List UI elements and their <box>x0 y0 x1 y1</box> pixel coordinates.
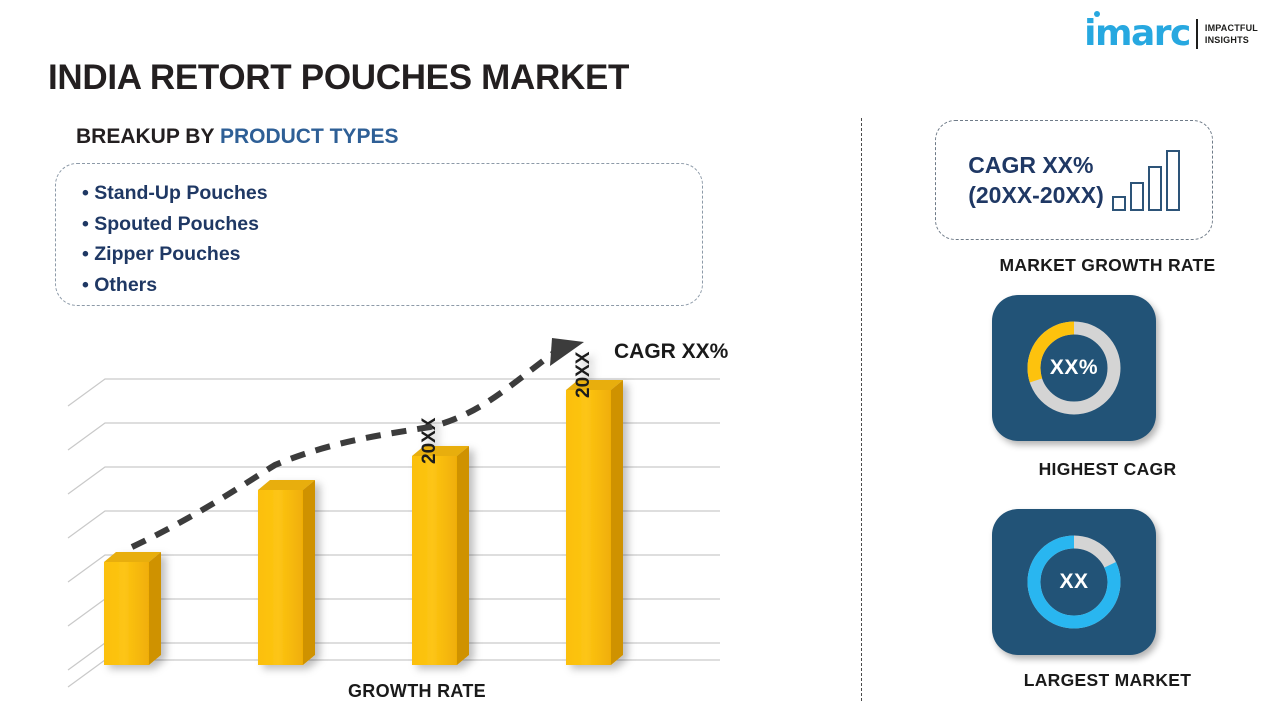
bar-chart-icon-bar-3 <box>1148 166 1162 211</box>
highest-cagr-value: XX% <box>1050 356 1098 380</box>
largest-market-caption-text: LARGEST MARKET <box>969 670 1247 691</box>
bar-chart-icon-bar-1 <box>1112 196 1126 211</box>
bar-1 <box>104 552 161 665</box>
breakup-heading-prefix: BREAKUP BY <box>76 125 220 148</box>
panel-divider <box>861 118 862 701</box>
market-growth-rate-box: CAGR XX% (20XX-20XX) <box>935 120 1213 240</box>
growth-rate-line2: (20XX-20XX) <box>968 180 1104 210</box>
largest-market-value: XX <box>1059 570 1088 594</box>
bar-4-label: 20XX <box>573 351 594 398</box>
breakup-heading-highlight: PRODUCT TYPES <box>220 125 399 148</box>
largest-market-card: XX <box>992 509 1156 655</box>
growth-rate-line1: CAGR XX% <box>968 150 1104 180</box>
trend-arrow <box>132 338 584 547</box>
bar-chart-icon <box>1112 149 1180 211</box>
chart-cagr-annotation: CAGR XX% <box>614 340 728 364</box>
logo-tagline-line1: IMPACTFUL <box>1205 22 1258 34</box>
market-growth-rate-caption: MARKET GROWTH RATE <box>0 255 1280 276</box>
bar-2 <box>258 480 315 665</box>
bar-3: 20XX <box>412 417 469 665</box>
highest-cagr-caption: HIGHEST CAGR <box>0 459 1280 480</box>
logo-wordmark-text: imarc <box>1084 13 1190 54</box>
highest-cagr-caption-text: HIGHEST CAGR <box>969 459 1247 480</box>
page-title: INDIA RETORT POUCHES MARKET <box>48 58 629 98</box>
bar-chart-icon-bar-4 <box>1166 150 1180 211</box>
breakup-heading: BREAKUP BY PRODUCT TYPES <box>76 125 398 149</box>
highest-cagr-card: XX% <box>992 295 1156 441</box>
market-growth-rate-caption-text: MARKET GROWTH RATE <box>969 255 1247 276</box>
bar-4: 20XX <box>566 351 623 665</box>
product-types-box: • Stand-Up Pouches • Spouted Pouches • Z… <box>55 163 703 306</box>
logo-wordmark: imarc <box>1084 16 1190 52</box>
logo-divider <box>1196 19 1198 49</box>
growth-rate-bar-chart: 20XX 20XX <box>60 330 760 710</box>
logo-tagline-line2: INSIGHTS <box>1205 34 1258 46</box>
list-item: • Stand-Up Pouches <box>82 178 702 209</box>
largest-market-caption: LARGEST MARKET <box>0 670 1280 691</box>
imarc-logo: imarc IMPACTFUL INSIGHTS <box>1084 14 1258 54</box>
bar-chart-icon-bar-2 <box>1130 182 1144 211</box>
growth-rate-text: CAGR XX% (20XX-20XX) <box>968 150 1104 210</box>
logo-tagline: IMPACTFUL INSIGHTS <box>1205 22 1258 46</box>
list-item: • Spouted Pouches <box>82 209 702 240</box>
